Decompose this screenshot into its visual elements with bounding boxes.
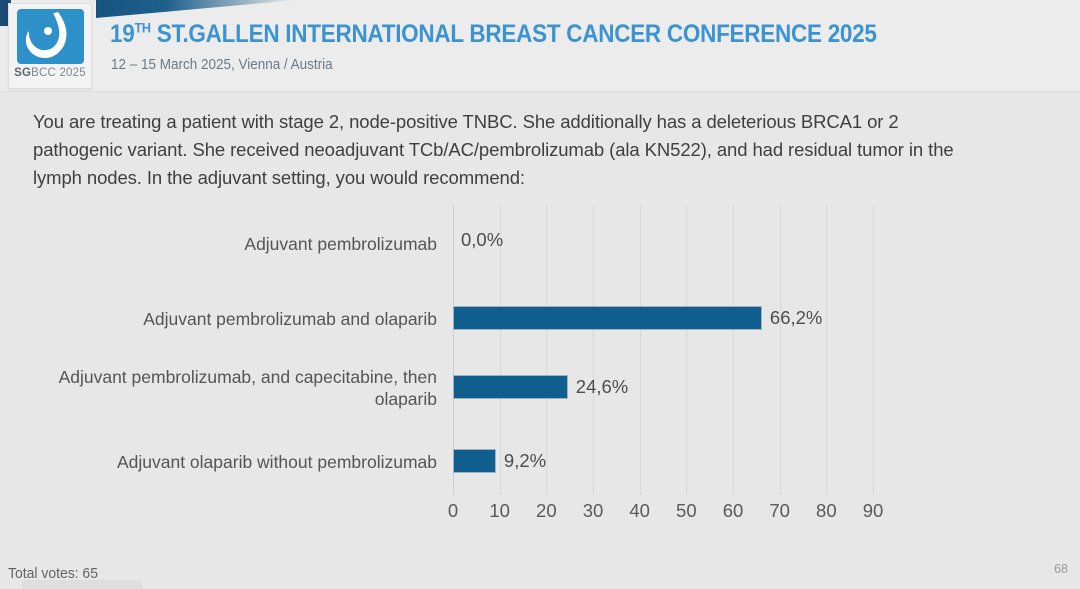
x-axis-tick-label: 20 <box>536 500 557 522</box>
x-axis-tick-label: 70 <box>769 500 790 522</box>
chart-bar-value-label: 9,2% <box>504 450 546 472</box>
header-diagonal-accent <box>96 0 296 18</box>
chart-category-label: Adjuvant pembrolizumab, and capecitabine… <box>17 366 437 410</box>
chart-category-label: Adjuvant olaparib without pembrolizumab <box>17 451 437 473</box>
logo-caption-bold: SG <box>14 67 31 79</box>
conference-header-banner: SGBCC 2025 19TH ST.GALLEN INTERNATIONAL … <box>0 0 1080 92</box>
x-axis-tick-label: 50 <box>676 500 697 522</box>
conference-subtitle: 12 – 15 March 2025, Vienna / Austria <box>111 57 333 73</box>
x-axis-tick-label: 0 <box>448 500 458 522</box>
conference-title-number: 19 <box>110 20 134 48</box>
x-axis-tick-label: 90 <box>863 500 884 522</box>
chart-bar <box>453 306 762 330</box>
sgbcc-logo: SGBCC 2025 <box>8 3 92 89</box>
chart-gridline <box>733 205 734 495</box>
chart-category-label: Adjuvant pembrolizumab and olaparib <box>17 308 437 330</box>
header-divider <box>0 91 1080 92</box>
x-axis-tick-label: 80 <box>816 500 837 522</box>
chart-bar-value-label: 66,2% <box>770 307 822 329</box>
x-axis-tick-label: 40 <box>629 500 650 522</box>
chart-category-label: Adjuvant pembrolizumab <box>17 233 437 255</box>
slide-page-number: 68 <box>1054 562 1068 576</box>
question-text: You are treating a patient with stage 2,… <box>33 108 963 192</box>
conference-title-ordinal: TH <box>134 20 150 36</box>
chart-x-axis: 0102030405060708090 <box>0 500 1080 532</box>
x-axis-tick-label: 10 <box>489 500 510 522</box>
logo-caption: SGBCC 2025 <box>9 67 91 79</box>
chart-bar-value-label: 0,0% <box>461 229 503 251</box>
chart-gridline <box>780 205 781 495</box>
chart-bar <box>453 375 568 399</box>
x-axis-tick-label: 30 <box>583 500 604 522</box>
chart-gridline <box>873 205 874 495</box>
chart-bar <box>453 449 496 473</box>
chart-gridline <box>546 205 547 495</box>
chart-gridline <box>640 205 641 495</box>
breast-droplet-logo-icon <box>17 9 84 64</box>
chart-gridline <box>593 205 594 495</box>
footer-highlight-bar <box>22 580 142 589</box>
logo-caption-rest: BCC 2025 <box>31 67 86 79</box>
chart-bar-value-label: 24,6% <box>576 376 628 398</box>
x-axis-tick-label: 60 <box>723 500 744 522</box>
chart-gridline <box>826 205 827 495</box>
conference-title-text: ST.GALLEN INTERNATIONAL BREAST CANCER CO… <box>151 20 877 48</box>
chart-gridline <box>686 205 687 495</box>
conference-title: 19TH ST.GALLEN INTERNATIONAL BREAST CANC… <box>110 20 877 49</box>
